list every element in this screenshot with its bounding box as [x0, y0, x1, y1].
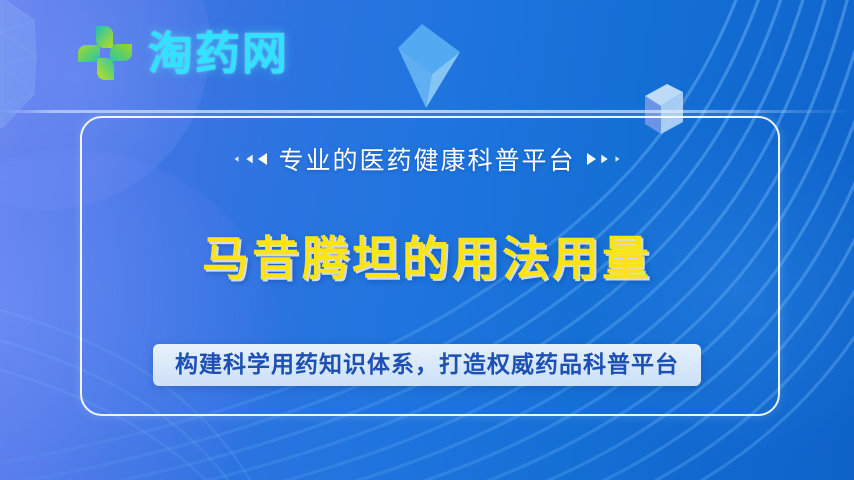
faceted-sphere-icon — [0, 0, 48, 134]
brand-logo: 淘药网 — [74, 22, 289, 84]
crystal-3d-icon — [396, 22, 466, 114]
banner-headline: 马昔腾坦的用法用量 — [0, 220, 854, 289]
banner-subtitle: 专业的医药健康科普平台 — [278, 141, 575, 177]
decor-hairline — [0, 110, 854, 113]
triangle-right-arrows-icon — [587, 153, 622, 165]
footer-tagline-text: 构建科学用药知识体系，打造权威药品科普平台 — [175, 351, 679, 377]
triangle-left-arrows-icon — [232, 153, 267, 165]
medical-cross-pinwheel-icon — [74, 22, 136, 84]
footer-tagline-pill: 构建科学用药知识体系，打造权威药品科普平台 — [153, 344, 701, 386]
brand-name: 淘药网 — [148, 31, 289, 76]
subtitle-row: 专业的医药健康科普平台 — [0, 142, 854, 176]
banner-canvas: 淘药网 专业的医药健康科普平台 马昔腾坦的用法用量 构建科学用药知识体系，打造权… — [0, 0, 854, 480]
